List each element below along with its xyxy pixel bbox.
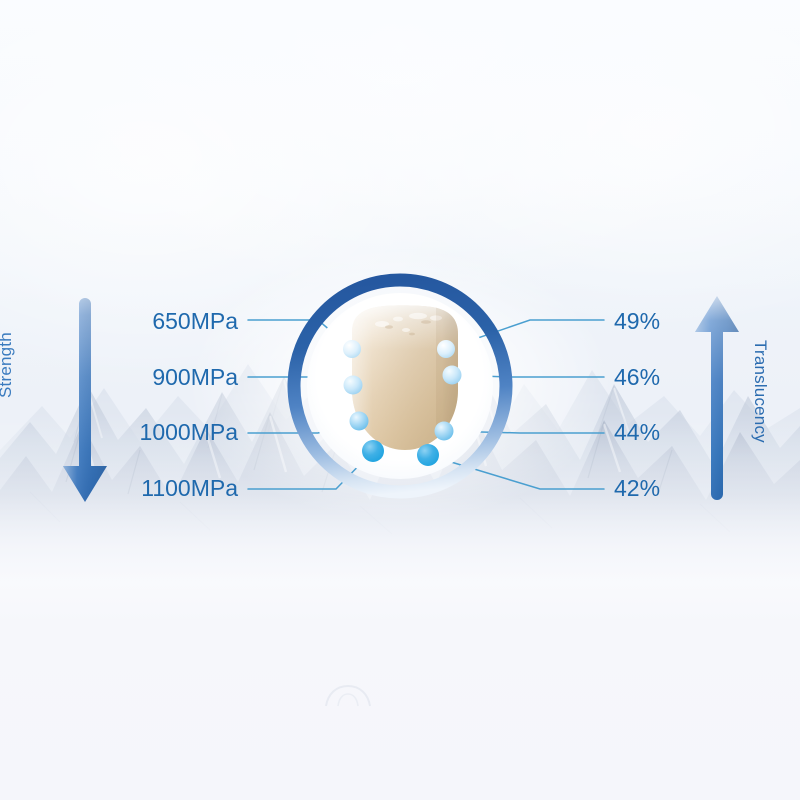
translucency-label-49: 49% <box>614 310 660 333</box>
strength-label-900: 900MPa <box>152 366 238 389</box>
dot-46 <box>443 366 462 385</box>
dot-900 <box>344 376 363 395</box>
dot-650 <box>343 340 361 358</box>
dot-1100 <box>362 440 384 462</box>
strength-label-1000: 1000MPa <box>140 421 238 444</box>
dot-49 <box>437 340 455 358</box>
center-circle <box>286 272 514 500</box>
dot-44 <box>435 422 454 441</box>
diagram-canvas: Strength Transl <box>0 0 800 800</box>
dot-42 <box>417 444 439 466</box>
dot-1000 <box>350 412 369 431</box>
translucency-label-44: 44% <box>614 421 660 444</box>
translucency-label-42: 42% <box>614 477 660 500</box>
strength-label-1100: 1100MPa <box>141 477 238 500</box>
translucency-label-46: 46% <box>614 366 660 389</box>
strength-label-650: 650MPa <box>152 310 238 333</box>
